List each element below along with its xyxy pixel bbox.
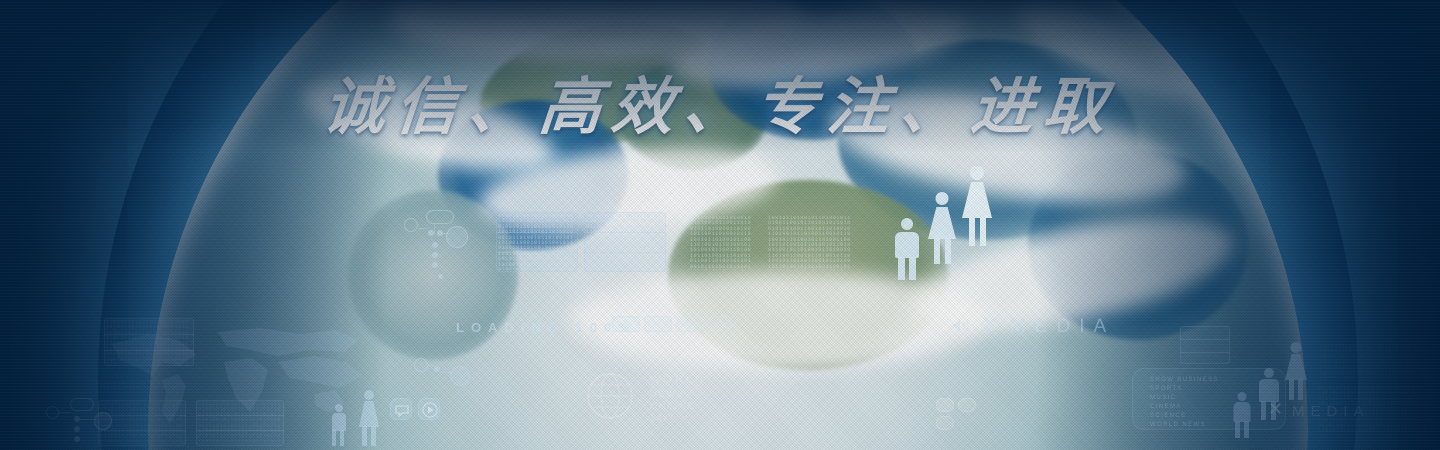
vignette-overlay [0, 0, 1440, 450]
hero-banner: 0110100101110011001011010101011010010111… [0, 0, 1440, 450]
